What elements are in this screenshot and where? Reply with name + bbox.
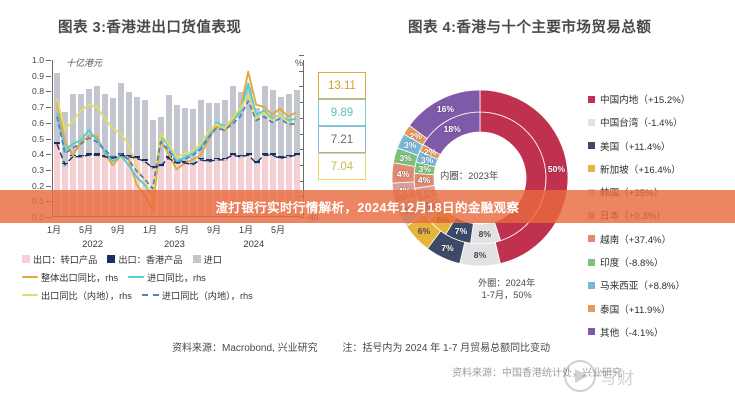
legend-item: 中国台湾（-1.4%） bbox=[588, 115, 735, 129]
donut-slice-label: 8% bbox=[474, 250, 486, 260]
legend-item: 马来西亚（+8.8%） bbox=[588, 278, 735, 292]
legend-swatch-icon bbox=[107, 255, 115, 263]
legend-swatch-icon bbox=[128, 276, 144, 279]
donut-slice-label: 8% bbox=[479, 229, 491, 239]
source-row: 资料来源：Macrobond, 兴业研究 注：括号内为 2024 年 1-7 月… bbox=[172, 339, 550, 354]
legend-swatch-icon bbox=[588, 96, 595, 103]
y-tick-label: 0.8 bbox=[18, 86, 44, 96]
donut-slice-label: 3% bbox=[399, 153, 411, 163]
legend-swatch-icon bbox=[142, 294, 159, 296]
legend-label: 进口 bbox=[204, 252, 222, 266]
x-axis-year-label: 2024 bbox=[243, 238, 264, 249]
line-series bbox=[57, 101, 296, 189]
legend-swatch-icon bbox=[588, 328, 595, 335]
legend-swatch-icon bbox=[588, 119, 595, 126]
legend-swatch-icon bbox=[22, 255, 30, 263]
donut-slice-label: 50% bbox=[548, 164, 565, 174]
legend-label: 越南（+37.4%） bbox=[600, 232, 671, 246]
legend-swatch-icon bbox=[193, 255, 201, 263]
callout-export-yoy: 13.11 bbox=[318, 72, 366, 99]
legend-item: 进口同比，rhs bbox=[128, 270, 206, 284]
legend-item: 新加坡（+16.4%） bbox=[588, 162, 735, 176]
x-tick-label: 9月 bbox=[207, 223, 221, 236]
legend-item: 中国内地（+15.2%） bbox=[588, 92, 735, 106]
legend-swatch-icon bbox=[22, 294, 38, 297]
legend-swatch-icon bbox=[588, 259, 595, 266]
donut-outer-ring-note: 外圈：2024年 1-7月，50% bbox=[478, 277, 535, 301]
donut-slice-label: 7% bbox=[441, 243, 453, 253]
legend-item: 美国（+11.4%） bbox=[588, 139, 735, 153]
y-tick-label: 0.7 bbox=[18, 102, 44, 112]
legend-label: 印度（-8.8%） bbox=[600, 255, 663, 269]
outer-note-line2: 1-7月，50% bbox=[478, 289, 535, 301]
legend-label: 中国台湾（-1.4%） bbox=[600, 115, 683, 129]
x-axis-year-label: 2023 bbox=[164, 238, 185, 249]
callout-import-yoy-mainland: 7.21 bbox=[318, 126, 366, 153]
legend-item: 进口同比（内地），rhs bbox=[142, 288, 253, 302]
x-tick-label: 1月 bbox=[47, 223, 61, 236]
legend-label: 泰国（+11.9%） bbox=[600, 302, 670, 316]
left-chart-title: 图表 3:香港进出口货值表现 bbox=[58, 16, 241, 37]
legend-swatch-icon bbox=[22, 276, 38, 279]
y-tick-label: 0.3 bbox=[18, 165, 44, 175]
legend-label: 新加坡（+16.4%） bbox=[600, 162, 681, 176]
x-tick-label: 5月 bbox=[175, 223, 189, 236]
legend-row: 整体出口同比，rhs进口同比，rhs bbox=[22, 270, 362, 284]
legend-label: 进口同比（内地），rhs bbox=[162, 288, 253, 302]
legend-label: 美国（+11.4%） bbox=[600, 139, 670, 153]
left-chart: 十亿港元 % 1.00.90.80.70.60.50.40.30.20.10.0… bbox=[18, 60, 363, 260]
legend-item: 出口：香港产品 bbox=[107, 252, 182, 266]
callout-import-yoy: 9.89 bbox=[318, 99, 366, 126]
legend-item: 印度（-8.8%） bbox=[588, 255, 735, 269]
donut-slice-label: 2% bbox=[409, 131, 421, 141]
banner-title: 渣打银行实时行情解析，2024年12月18日的金融观察 bbox=[216, 197, 520, 216]
x-tick-label: 5月 bbox=[271, 223, 285, 236]
legend-label: 整体出口同比，rhs bbox=[41, 270, 118, 284]
donut-slice-label: 7% bbox=[455, 226, 467, 236]
donut-slice-label: 2% bbox=[424, 147, 436, 157]
legend-swatch-icon bbox=[588, 165, 595, 172]
legend-label: 其他（-4.1%） bbox=[600, 325, 663, 339]
donut-inner-ring-note: 内圈：2023年 bbox=[440, 168, 498, 182]
legend-item: 泰国（+11.9%） bbox=[588, 302, 735, 316]
x-tick-label: 5月 bbox=[79, 223, 93, 236]
y-tick-label: 1.0 bbox=[18, 55, 44, 65]
legend-label: 马来西亚（+8.8%） bbox=[600, 278, 685, 292]
donut-slice-label: 16% bbox=[437, 104, 454, 114]
donut-slice-label: 18% bbox=[444, 124, 461, 134]
legend-row: 出口：转口产品出口：香港产品进口 bbox=[22, 252, 362, 266]
legend-label: 出口同比（内地），rhs bbox=[41, 288, 132, 302]
y-tick-label: 0.9 bbox=[18, 71, 44, 81]
donut-slice-label: 6% bbox=[418, 226, 430, 236]
donut-slice-label: 3% bbox=[404, 140, 416, 150]
legend-swatch-icon bbox=[588, 142, 595, 149]
y-tick-label: 0.6 bbox=[18, 118, 44, 128]
legend-label: 出口：转口产品 bbox=[33, 252, 97, 266]
outer-note-line1: 外圈：2024年 bbox=[478, 277, 535, 289]
source-text: 资料来源：Macrobond, 兴业研究 bbox=[172, 343, 318, 354]
right-chart-title: 图表 4:香港与十个主要市场贸易总额 bbox=[408, 16, 651, 37]
donut-slice-label: 3% bbox=[418, 164, 430, 174]
x-tick-label: 9月 bbox=[111, 223, 125, 236]
callout-export-yoy-mainland: 7.04 bbox=[318, 153, 366, 180]
legend-swatch-icon bbox=[588, 282, 595, 289]
line-series bbox=[57, 83, 296, 196]
legend-label: 中国内地（+15.2%） bbox=[600, 92, 690, 106]
infographic-page: 图表 3:香港进出口货值表现 十亿港元 % 1.00.90.80.70.60.5… bbox=[0, 0, 735, 400]
left-chart-legend: 出口：转口产品出口：香港产品进口整体出口同比，rhs进口同比，rhs出口同比（内… bbox=[22, 252, 362, 306]
x-tick-label: 1月 bbox=[143, 223, 157, 236]
legend-swatch-icon bbox=[588, 305, 595, 312]
legend-item: 整体出口同比，rhs bbox=[22, 270, 118, 284]
legend-label: 出口：香港产品 bbox=[118, 252, 182, 266]
x-tick-label: 1月 bbox=[239, 223, 253, 236]
line-series bbox=[57, 95, 296, 196]
footnote-text: 注：括号内为 2024 年 1-7 月贸易总额同比变动 bbox=[342, 343, 550, 354]
legend-item: 出口同比（内地），rhs bbox=[22, 288, 132, 302]
legend-item: 其他（-4.1%） bbox=[588, 325, 735, 339]
overlay-banner: 渣打银行实时行情解析，2024年12月18日的金融观察 bbox=[0, 190, 735, 223]
legend-item: 出口：转口产品 bbox=[22, 252, 97, 266]
x-axis-year-label: 2022 bbox=[82, 238, 103, 249]
donut-slice-label: 4% bbox=[418, 175, 430, 185]
legend-item: 进口 bbox=[193, 252, 222, 266]
donut-slice-label: 4% bbox=[397, 169, 409, 179]
legend-label: 进口同比，rhs bbox=[147, 270, 206, 284]
y-tick-label: 0.5 bbox=[18, 134, 44, 144]
legend-swatch-icon bbox=[588, 235, 595, 242]
legend-item: 越南（+37.4%） bbox=[588, 232, 735, 246]
secondary-source-text: 资料来源：中国香港统计处，兴业研究 bbox=[452, 364, 622, 379]
legend-row: 出口同比（内地），rhs进口同比（内地），rhs bbox=[22, 288, 362, 302]
y-tick-label: 0.4 bbox=[18, 149, 44, 159]
